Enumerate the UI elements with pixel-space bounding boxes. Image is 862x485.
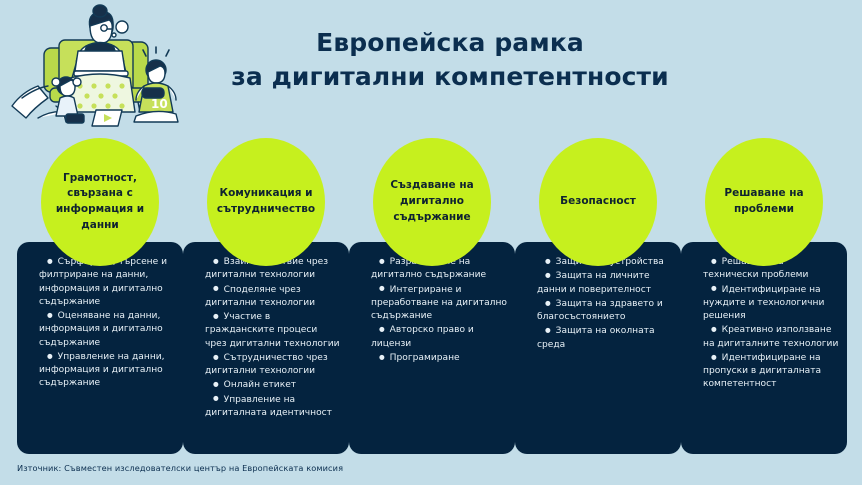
bubble-problem-solving[interactable]: Решаване на проблеми <box>705 138 823 266</box>
bullet-list: Разработване на дигитално съдържание Инт… <box>357 256 507 365</box>
competence-column-information-and-data-literacy: Грамотност, свързана с информация и данн… <box>17 138 183 454</box>
competence-column-problem-solving: Решаване на проблеми Решаване на техниче… <box>681 138 847 454</box>
page-title-line-2: за дигитални компетентности <box>200 60 700 94</box>
card-digital-content-creation: Разработване на дигитално съдържание Инт… <box>349 242 515 454</box>
page-title: Европейска рамка за дигитални компетентн… <box>200 26 700 94</box>
list-item: Управление на данни, информация и дигита… <box>25 351 175 391</box>
bubble-label: Безопасност <box>556 194 640 210</box>
list-item: Оценяване на данни, информация и дигитал… <box>25 310 175 350</box>
list-item: Интегриране и преработване на дигитално … <box>357 284 507 324</box>
list-item: Споделяне чрез дигитални технологии <box>191 284 341 311</box>
competence-column-digital-content-creation: Създаване на дигитално съдържание Разраб… <box>349 138 515 454</box>
competence-areas: Грамотност, свързана с информация и данн… <box>0 138 862 454</box>
svg-text:10: 10 <box>151 97 168 111</box>
bubble-communication-and-collaboration[interactable]: Комуникация и сътрудничество <box>207 138 325 266</box>
card-safety: Защита на устройства Защита на личните д… <box>515 242 681 454</box>
list-item: Управление на дигиталната идентичност <box>191 394 341 421</box>
card-problem-solving: Решаване на технически проблеми Идентифи… <box>681 242 847 454</box>
bubble-label: Комуникация и сътрудничество <box>207 186 325 218</box>
card-information-and-data-literacy: Сърфиране, търсене и филтриране на данни… <box>17 242 183 454</box>
list-item: Защита на здравето и благосъстоянието <box>523 298 673 325</box>
source-note: Източник: Съвместен изследователски цент… <box>17 463 343 473</box>
list-item: Идентифициране на нуждите и технологични… <box>689 284 839 324</box>
list-item: Идентифициране на пропуски в дигиталната… <box>689 352 839 392</box>
competence-column-safety: Безопасност Защита на устройства Защита … <box>515 138 681 454</box>
bullet-list: Взаимодействие чрез дигитални технологии… <box>191 256 341 420</box>
page-title-line-1: Европейска рамка <box>200 26 700 60</box>
bubble-label: Решаване на проблеми <box>705 186 823 218</box>
list-item: Участие в гражданските процеси чрез диги… <box>191 311 341 351</box>
bubble-digital-content-creation[interactable]: Създаване на дигитално съдържание <box>373 138 491 266</box>
bubble-safety[interactable]: Безопасност <box>539 138 657 266</box>
card-communication-and-collaboration: Взаимодействие чрез дигитални технологии… <box>183 242 349 454</box>
list-item: Авторско право и лицензи <box>357 324 507 351</box>
list-item: Защита на личните данни и поверителност <box>523 270 673 297</box>
bullet-list: Решаване на технически проблеми Идентифи… <box>689 256 839 392</box>
bubble-label: Създаване на дигитално съдържание <box>373 178 491 225</box>
bubble-information-and-data-literacy[interactable]: Грамотност, свързана с информация и данн… <box>41 138 159 266</box>
list-item: Онлайн етикет <box>191 379 341 392</box>
competence-column-communication-and-collaboration: Комуникация и сътрудничество Взаимодейст… <box>183 138 349 454</box>
list-item: Защита на околната среда <box>523 325 673 352</box>
list-item: Сътрудничество чрез дигитални технологии <box>191 352 341 379</box>
bullet-list: Защита на устройства Защита на личните д… <box>523 256 673 352</box>
list-item: Креативно използване на дигиталните техн… <box>689 324 839 351</box>
bullet-list: Сърфиране, търсене и филтриране на данни… <box>25 256 175 391</box>
bubble-label: Грамотност, свързана с информация и данн… <box>41 171 159 234</box>
list-item: Програмиране <box>357 352 507 365</box>
family-using-digital-devices-illustration: 10 <box>4 2 204 134</box>
